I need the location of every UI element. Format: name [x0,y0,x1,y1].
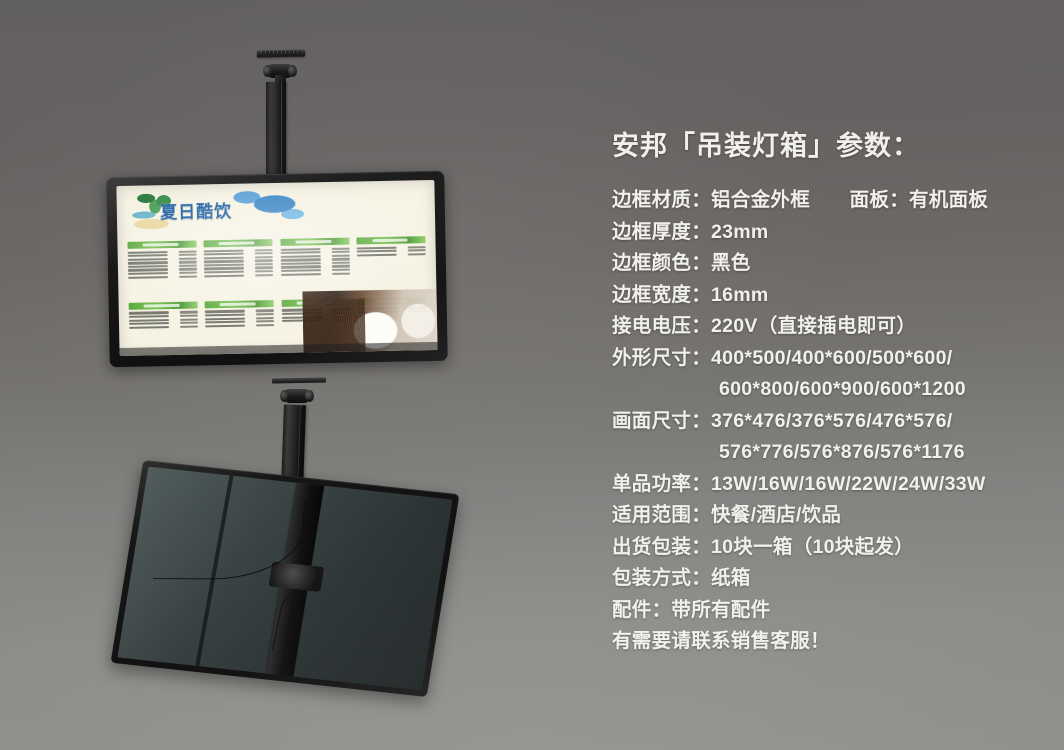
section-header-banner [127,241,196,249]
specs-title: 安邦「吊装灯箱」参数： [612,124,1052,163]
poster-title: 夏日酷饮 [160,194,293,228]
pivot-knob-left [263,65,272,77]
menu-rows [205,308,274,327]
spec-line-frame-material: 边框材质：铝合金外框 面板：有机面板 [612,185,1052,217]
section-header-banner [204,239,273,247]
menu-rows [204,247,274,277]
aluminium-frame-front: 夏日酷饮 [106,171,448,367]
menu-row [128,275,197,279]
menu-section [127,241,197,301]
spec-line-application: 适用范围：快餐/酒店/饮品 [612,500,1052,532]
menu-rows [280,246,350,276]
section-header-banner [357,236,426,244]
spec-line-shipping-pack: 出货包装：10块一箱（10块起发） [612,532,1052,564]
menu-rows [357,244,426,256]
spec-line-contact: 有需要请联系销售客服！ [612,626,1052,658]
poster-hero-graphic: 夏日酷饮 [123,186,308,241]
menu-row [357,253,426,257]
spec-line-picture-size: 画面尺寸：376*476/376*576/476*576/ [612,406,1052,438]
light-box-front-unit: 夏日酷饮 [106,171,448,367]
menu-rows [127,249,197,279]
menu-section [128,301,198,350]
menu-section [357,236,427,296]
acrylic-panel-front: 夏日酷饮 [116,180,437,356]
spec-line-power: 单品功率：13W/16W/16W/22W/24W/33W [612,469,1052,501]
specs-list: 边框材质：铝合金外框 面板：有机面板 边框厚度：23mm 边框颜色：黑色 边框宽… [612,185,1052,658]
light-box-rear-unit [111,460,460,697]
rear-bracket-joint [268,562,324,592]
spec-line-frame-thickness: 边框厚度：23mm [612,217,1052,249]
spec-line-accessories: 配件：带所有配件 [612,595,1052,627]
rear-panel [117,467,452,691]
aluminium-frame-rear [111,460,460,697]
menu-rows [128,309,197,328]
section-header-banner [128,301,197,309]
spec-line-outer-size: 外形尺寸：400*500/400*600/500*600/ [612,343,1052,375]
menu-row [129,325,198,329]
spec-line-frame-color: 边框颜色：黑色 [612,248,1052,280]
spec-line-voltage: 接电电压：220V（直接插电即可） [612,311,1052,343]
menu-row [281,272,350,276]
section-header-banner [205,300,274,308]
spec-line-outer-size-cont: 600*800/600*900/600*1200 [612,374,1052,406]
specifications-block: 安邦「吊装灯箱」参数： 边框材质：铝合金外框 面板：有机面板 边框厚度：23mm… [612,124,1052,658]
menu-section [204,239,274,299]
section-header-banner [280,238,349,246]
product-promo-image: 夏日酷饮 [0,0,1064,750]
menu-section [205,300,275,349]
pivot-knob-right [288,65,297,77]
menu-section [280,238,350,298]
menu-poster: 夏日酷饮 [116,180,437,356]
menu-row [205,324,274,328]
spec-line-frame-width: 边框宽度：16mm [612,280,1052,312]
spec-line-picture-size-cont: 576*776/576*876/576*1176 [612,437,1052,469]
upper-mounting-pole [266,82,286,180]
menu-row [204,274,273,278]
spec-line-packing-method: 包装方式：纸箱 [612,563,1052,595]
pivot-knob-left [280,390,289,402]
ceiling-pivot-joint [263,57,297,85]
pivot-knob-right [305,390,314,402]
